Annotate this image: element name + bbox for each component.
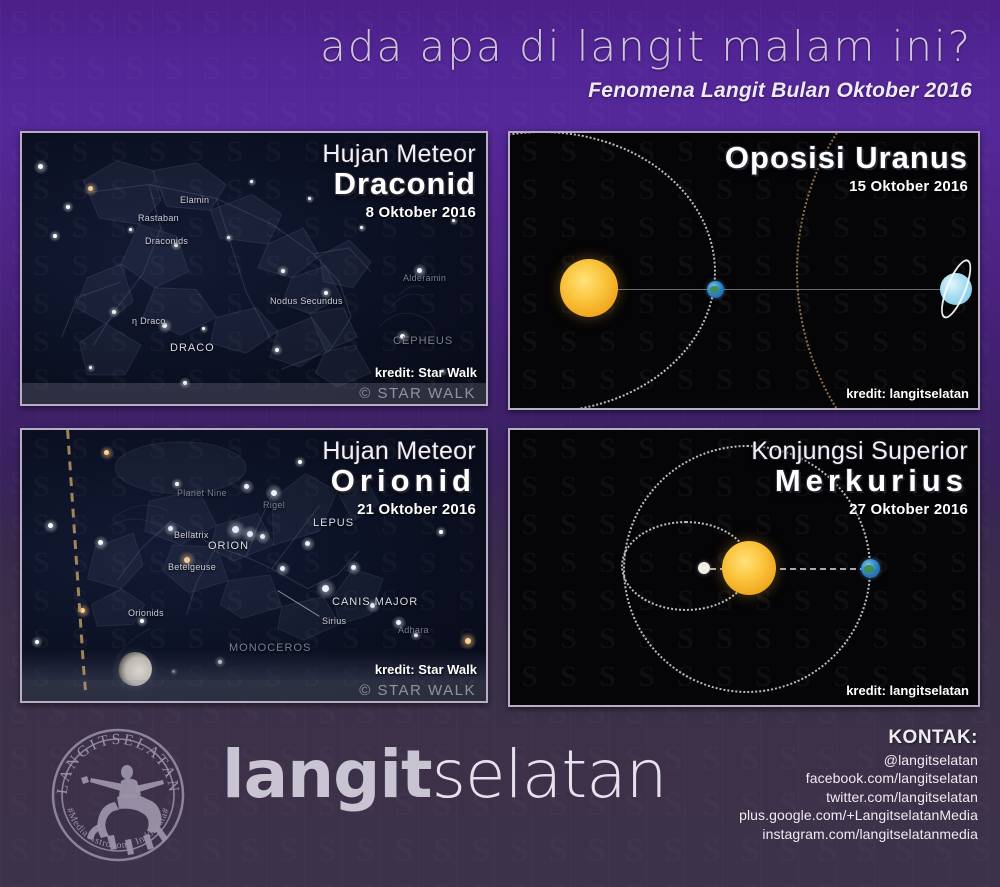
earth-body (861, 559, 880, 578)
panel-orionid[interactable]: SSSSSSSSSSSSSSSSSSSSSSSSSSSSSSSSSSSSSSSS… (20, 428, 488, 703)
panel-konjungsi-merkurius[interactable]: SSSSSSSSSSSSSSSSSSSSSSSSSSSSSSSSSSSSSSSS… (508, 428, 980, 707)
panel-date: 8 Oktober 2016 (322, 204, 476, 221)
starwalk-watermark-bar: © STAR WALK (22, 383, 486, 404)
starwalk-watermark-text: © STAR WALK (359, 385, 476, 402)
star-label-sirius: Sirius (322, 616, 346, 626)
panel-draconid[interactable]: SSSSSSSSSSSSSSSSSSSSSSSSSSSSSSSSSSSSSSSS… (20, 131, 488, 406)
panel-date: 21 Oktober 2016 (322, 501, 476, 518)
langitselatan-logo[interactable]: LANGITSELATAN #Media Astronomi Indonesia… (47, 724, 189, 866)
panel-kicker: Hujan Meteor (322, 438, 476, 464)
panel-credit: kredit: Star Walk (375, 662, 477, 677)
starwalk-watermark-bar: © STAR WALK (22, 680, 486, 701)
panel-credit: kredit: Star Walk (375, 365, 477, 380)
contact-facebook-link[interactable]: facebook.com/langitselatan (739, 770, 978, 786)
constellation-label-canis-major: CANIS MAJOR (332, 596, 418, 608)
star-label-draconids: Draconids (145, 236, 188, 246)
panel-oposisi-uranus[interactable]: SSSSSSSSSSSSSSSSSSSSSSSSSSSSSSSSSSSSSSSS… (508, 131, 980, 410)
panel-title-block: Konjungsi Superior Merkurius 27 Oktober … (751, 438, 968, 518)
constellation-label-cepheus: CEPHEUS (393, 335, 453, 347)
panel-credit: kredit: langitselatan (846, 386, 969, 401)
panel-title-block: Hujan Meteor Draconid 8 Oktober 2016 (322, 141, 476, 221)
contact-twitter-link[interactable]: twitter.com/langitselatan (739, 789, 978, 805)
panel-title-block: Oposisi Uranus 15 Oktober 2016 (725, 141, 968, 195)
constellation-label-monoceros: MONOCEROS (229, 642, 311, 654)
star-label-rastaban: Rastaban (138, 213, 179, 223)
panel-title: Oposisi Uranus (725, 142, 968, 175)
star-label-betelgeuse: Betelgeuse (168, 562, 216, 572)
star-label-rigel: Rigel (263, 500, 285, 510)
contact-heading: KONTAK: (739, 727, 978, 749)
page-title: ada apa di langit malam ini? (0, 22, 972, 71)
star-label-adhara: Adhara (398, 625, 429, 635)
star-label-nodus-secundus: Nodus Secundus (270, 296, 343, 306)
wordmark-bold: langit (222, 736, 432, 813)
panel-kicker: Hujan Meteor (322, 141, 476, 167)
star-label-bellatrix: Bellatrix (174, 530, 209, 540)
starwalk-watermark-text: © STAR WALK (359, 682, 476, 699)
star-label-alderamin: Alderamin (403, 273, 446, 283)
langitselatan-wordmark: langitselatan (222, 742, 667, 808)
uranus-body (940, 273, 972, 305)
star-label-planet-nine: Planet Nine (177, 488, 227, 498)
contact-instagram-link[interactable]: instagram.com/langitselatanmedia (739, 826, 978, 842)
panel-title: Draconid (322, 168, 476, 201)
panel-credit: kredit: langitselatan (846, 683, 969, 698)
star-label-elamin: Elamin (180, 195, 209, 205)
panel-title: Orionid (322, 465, 476, 498)
wordmark-light: selatan (432, 736, 667, 813)
logo-seal-svg: LANGITSELATAN #Media Astronomi Indonesia… (47, 724, 189, 866)
constellation-label-orion: ORION (208, 540, 249, 552)
page-subtitle: Fenomena Langit Bulan Oktober 2016 (0, 79, 972, 103)
constellation-label-lepus: LEPUS (313, 517, 354, 529)
poster-root: SSSSSSSSSSSSSSSSSSSSSSSSSSSSSSSSSSSSSSSS… (0, 0, 1000, 887)
contact-googleplus-link[interactable]: plus.google.com/+LangitselatanMedia (739, 807, 978, 823)
mercury-body (698, 562, 710, 574)
opposition-sight-line (570, 289, 950, 290)
poster-header: ada apa di langit malam ini? Fenomena La… (0, 22, 972, 103)
panel-date: 15 Oktober 2016 (725, 178, 968, 195)
constellation-label-draco: DRACO (170, 342, 215, 354)
sun-body (722, 541, 776, 595)
panel-title-block: Hujan Meteor Orionid 21 Oktober 2016 (322, 438, 476, 518)
contact-instagram-handle[interactable]: @langitselatan (739, 752, 978, 768)
panel-title: Merkurius (751, 465, 968, 498)
sun-body (560, 259, 618, 317)
star-label-eta-draco: η Draco (132, 316, 166, 326)
star-label-orionids: Orionids (128, 608, 164, 618)
earth-body (707, 281, 724, 298)
panel-kicker: Konjungsi Superior (751, 438, 968, 464)
panel-date: 27 Oktober 2016 (751, 501, 968, 518)
contact-block: KONTAK: @langitselatan facebook.com/lang… (739, 727, 978, 842)
